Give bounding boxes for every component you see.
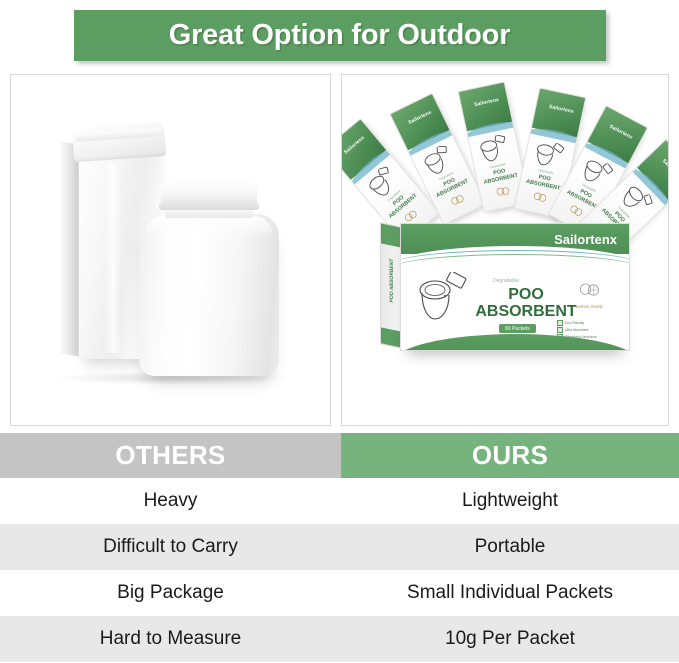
table-cell-text: Portable	[475, 536, 546, 558]
jar-highlight	[161, 232, 181, 362]
page-title: Great Option for Outdoor	[169, 19, 511, 52]
table-cell-others: Difficult to Carry	[0, 524, 341, 570]
box-feature-item: Ultra Absorbent	[557, 327, 615, 333]
table-row: Hard to Measure 10g Per Packet	[0, 616, 679, 662]
table-cell-others: Heavy	[0, 478, 341, 524]
box-scent-label: Lemon Scent	[571, 304, 607, 309]
table-cell-ours: Lightweight	[341, 478, 679, 524]
jar-body	[139, 214, 279, 376]
table-header-ours: OURS	[341, 433, 679, 478]
table-cell-ours: Small Individual Packets	[341, 570, 679, 616]
box-feature-label: Eco-Friendly	[565, 321, 584, 325]
header-banner: Great Option for Outdoor	[74, 10, 606, 61]
product-image-panels: Sailortenx Degradable POO ABSORBENT Sail…	[0, 74, 679, 429]
comparison-table: OTHERS OURS Heavy Lightweight Difficult …	[0, 433, 679, 662]
table-cell-others: Hard to Measure	[0, 616, 341, 662]
check-box-icon	[557, 320, 563, 326]
box-degradable-label: Degradable	[493, 278, 519, 284]
table-cell-text: Small Individual Packets	[407, 582, 613, 604]
ours-image-panel: Sailortenx Degradable POO ABSORBENT Sail…	[341, 74, 669, 426]
check-box-icon	[557, 327, 563, 333]
table-header-row: OTHERS OURS	[0, 433, 679, 478]
pouch-highlight	[105, 163, 121, 353]
table-header-others: OTHERS	[0, 433, 341, 478]
table-row: Big Package Small Individual Packets	[0, 570, 679, 616]
box-packet-count-badge: 60 Packets	[499, 324, 536, 333]
box-brand-label: Sailortenx	[554, 232, 617, 247]
box-feature-item: Eco-Friendly	[557, 320, 615, 326]
white-jar-image	[139, 180, 279, 380]
box-title-line2: ABSORBENT	[475, 303, 576, 320]
table-header-ours-label: OURS	[472, 440, 548, 471]
box-front-panel: Sailortenx Degradable POO ABSORBENT 60 P…	[400, 223, 630, 351]
table-cell-ours: 10g Per Packet	[341, 616, 679, 662]
table-cell-text: Big Package	[117, 582, 224, 604]
box-scent-block: Lemon Scent	[571, 282, 607, 309]
box-side-text: POO ABSORBENT	[389, 249, 395, 312]
jar-lid	[161, 180, 257, 206]
lemon-icon	[448, 192, 466, 208]
table-cell-others: Big Package	[0, 570, 341, 616]
lemon-icon	[576, 282, 602, 298]
table-cell-ours: Portable	[341, 524, 679, 570]
header-section: Great Option for Outdoor	[0, 0, 679, 70]
table-row: Heavy Lightweight	[0, 478, 679, 524]
others-image-panel	[10, 74, 331, 426]
table-cell-text: Difficult to Carry	[103, 536, 238, 558]
table-cell-text: Hard to Measure	[100, 628, 242, 650]
table-cell-text: Lightweight	[462, 490, 558, 512]
box-title: POO ABSORBENT	[471, 286, 581, 320]
box-title-line1: POO	[508, 286, 544, 303]
lemon-icon	[494, 185, 511, 198]
table-row: Difficult to Carry Portable	[0, 524, 679, 570]
table-header-others-label: OTHERS	[115, 440, 225, 471]
toilet-icon	[415, 272, 471, 324]
table-cell-text: Heavy	[144, 490, 198, 512]
lemon-icon	[532, 190, 549, 203]
product-box-image: POO ABSORBENT Sailortenx Degradable POO	[380, 223, 628, 355]
table-cell-text: 10g Per Packet	[445, 628, 575, 650]
box-feature-label: Ultra Absorbent	[565, 328, 588, 332]
